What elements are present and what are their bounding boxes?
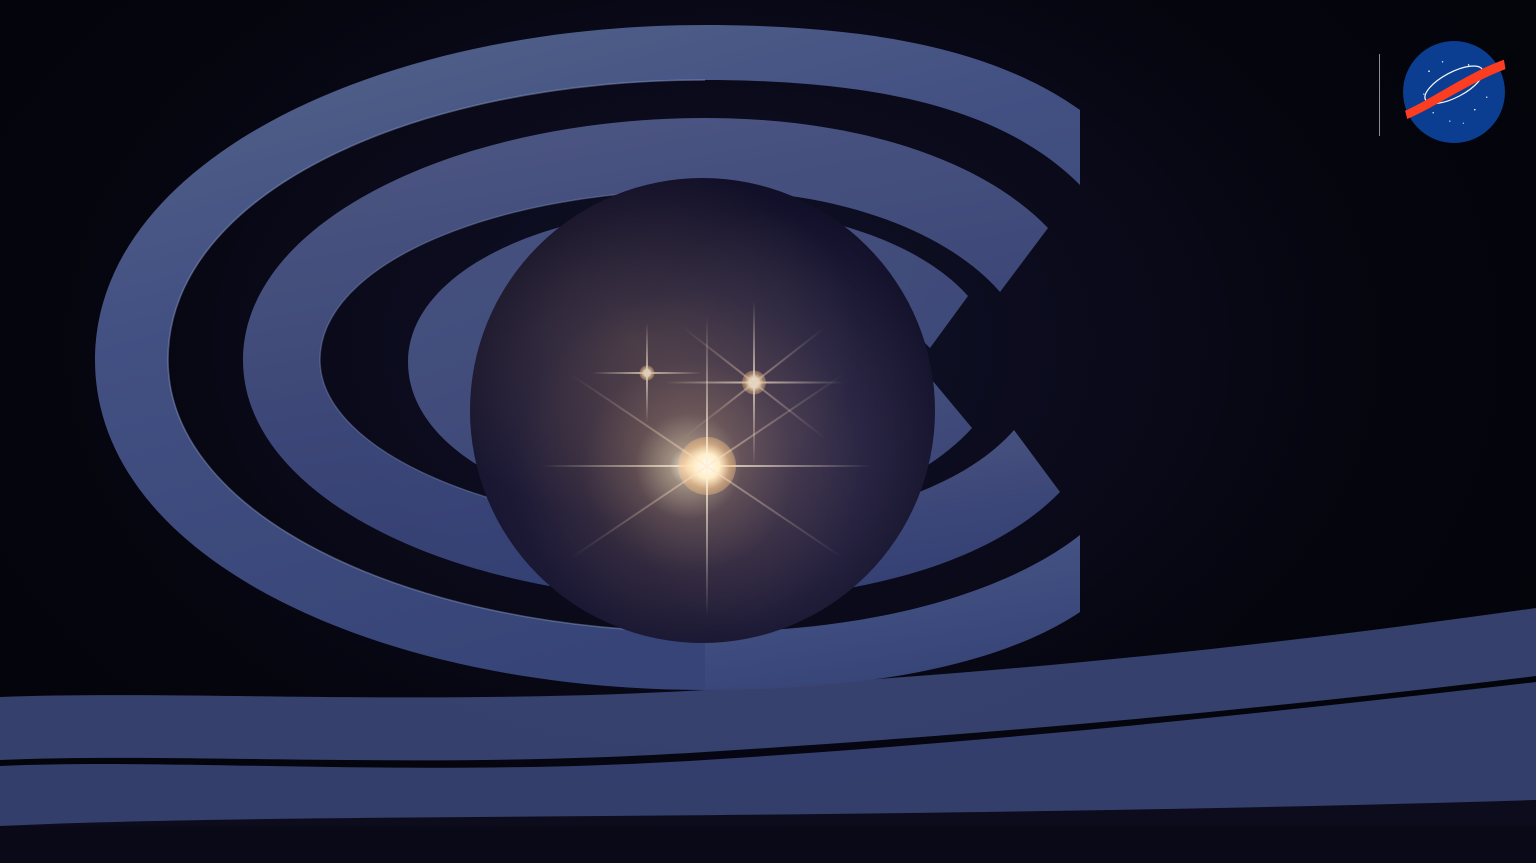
key-legend bbox=[38, 695, 126, 709]
star-flare-secondary bbox=[664, 300, 844, 465]
star-flare-tertiary bbox=[592, 323, 702, 423]
galaxy-center-image bbox=[470, 178, 935, 643]
nasa-meatball-logo bbox=[1402, 40, 1506, 149]
nasa-header bbox=[1357, 40, 1506, 149]
header-divider bbox=[1379, 54, 1380, 136]
star-flare-main bbox=[542, 316, 872, 616]
astrophysics-fleet-infographic bbox=[0, 0, 1536, 863]
